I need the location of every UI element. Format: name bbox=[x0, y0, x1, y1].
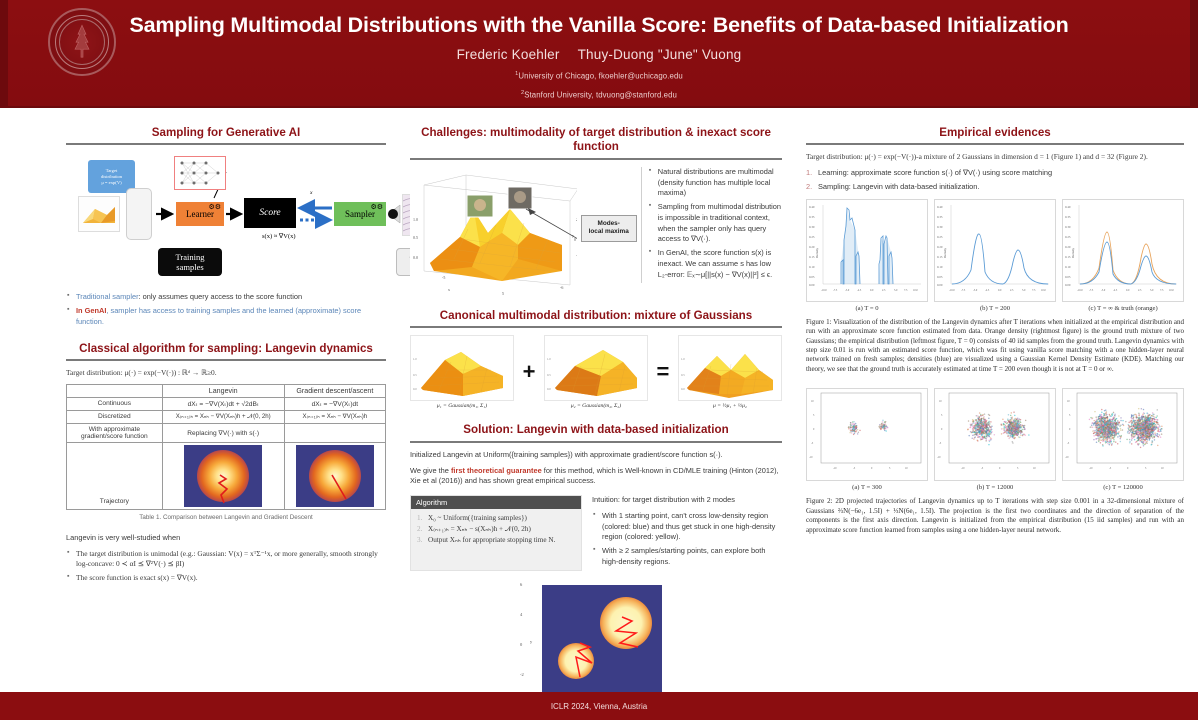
svg-text:10: 10 bbox=[939, 400, 942, 403]
svg-text:10: 10 bbox=[1067, 400, 1070, 403]
solution-paragraph-1: Initialized Langevin at Uniform({trainin… bbox=[410, 450, 782, 461]
svg-text:0.0: 0.0 bbox=[998, 289, 1002, 292]
list-item: The score function is exact s(x) = ∇V(x)… bbox=[66, 573, 386, 584]
mixture-of-gaussians-row: 1.00.50.0 μ₁ = Gaussian(m₁, Σ₁) + bbox=[410, 335, 782, 409]
svg-text:0.5: 0.5 bbox=[413, 235, 418, 240]
density-surface-thumbnail bbox=[78, 196, 120, 232]
svg-text:0.40: 0.40 bbox=[1065, 205, 1071, 209]
figure-2-row: 1050-5-10 -10-50510 (a) T = 300 bbox=[806, 388, 1184, 491]
divider bbox=[410, 326, 782, 328]
cell-continuous-gradient: dXₜ = −∇V(Xₜ)dt bbox=[284, 397, 385, 410]
svg-text:0.20: 0.20 bbox=[937, 245, 943, 249]
figure-1c: 0.400.350.30 0.250.200.15 0.100.050.00 D… bbox=[1062, 199, 1184, 312]
affiliation-1: 1University of Chicago, fkoehler@uchicag… bbox=[515, 71, 683, 81]
neural-network-icon bbox=[174, 156, 226, 190]
svg-text:-5: -5 bbox=[442, 275, 445, 280]
bullet-lead: Traditional sampler bbox=[76, 292, 139, 301]
list-item: X₍ₙ₊₁₎ₕ = Xₙₕ − s(Xₙₕ)h + 𝒩(0, 2h) bbox=[417, 524, 575, 535]
svg-text:0.0: 0.0 bbox=[413, 387, 417, 391]
intuition-wrap: Intuition: for target distribution with … bbox=[592, 495, 782, 570]
svg-text:Density: Density bbox=[815, 247, 819, 258]
section-title-canonical-multimodal: Canonical multimodal distribution: mixtu… bbox=[410, 309, 782, 323]
bullet-text: The target distribution is unimodal (e.g… bbox=[76, 549, 378, 569]
comparison-table: Langevin Gradient descent/ascent Continu… bbox=[66, 384, 386, 510]
figure-2a: 1050-5-10 -10-50510 (a) T = 300 bbox=[806, 388, 928, 491]
col-header-langevin: Langevin bbox=[162, 384, 284, 397]
poster-footer: ICLR 2024, Vienna, Austria bbox=[0, 692, 1198, 720]
svg-text:-7.5: -7.5 bbox=[833, 289, 838, 292]
svg-text:0.05: 0.05 bbox=[937, 275, 943, 279]
svg-text:-5.0: -5.0 bbox=[845, 289, 850, 292]
solution-paragraph-2: We give the first theoretical guarantee … bbox=[410, 466, 782, 487]
figure-1a-caption: (a) T = 0 bbox=[806, 305, 928, 312]
row-label-trajectory: Trajectory bbox=[67, 442, 163, 509]
learner-box: Learner ⚙⚙ bbox=[176, 202, 224, 226]
svg-text:0.0: 0.0 bbox=[547, 387, 551, 391]
svg-text:-5.0: -5.0 bbox=[1101, 289, 1106, 292]
svg-text:0.25: 0.25 bbox=[937, 235, 943, 239]
svg-text:5: 5 bbox=[889, 467, 891, 470]
bullet-text: With 1 starting point, can't cross low-d… bbox=[602, 511, 775, 541]
stanford-seal-icon bbox=[48, 8, 116, 76]
svg-text:0.10: 0.10 bbox=[1065, 265, 1071, 269]
bullet-text: The score function is exact s(x) = ∇V(x)… bbox=[76, 573, 198, 582]
svg-text:0.0: 0.0 bbox=[1126, 289, 1130, 292]
challenges-row: 1.00.50.0 -5x 5-6 20y-2 Modes- local max… bbox=[410, 167, 782, 297]
svg-text:2: 2 bbox=[576, 217, 577, 222]
empirical-steps: Learning: approximate score function s(·… bbox=[806, 168, 1184, 192]
challenges-bullets-wrap: Natural distributions are multimodal (de… bbox=[641, 167, 782, 283]
svg-text:2.5: 2.5 bbox=[882, 289, 886, 292]
figure-2c: 1050-5-10 -10-50510 (c) T = 120000 bbox=[1062, 388, 1184, 491]
svg-text:Density: Density bbox=[943, 247, 947, 258]
svg-text:0.15: 0.15 bbox=[809, 255, 815, 259]
svg-text:5: 5 bbox=[1017, 467, 1019, 470]
list-item: Sampling from multimodal distribution is… bbox=[648, 202, 782, 245]
column-middle: Challenges: multimodality of target dist… bbox=[400, 118, 792, 692]
svg-text:-5: -5 bbox=[939, 442, 942, 445]
svg-text:1.0: 1.0 bbox=[413, 357, 417, 361]
table-row: Discretized X₍ₙ₊₁₎ₕ = Xₙₕ − ∇V(Xₙₕ)h + 𝒩… bbox=[67, 410, 386, 423]
training-line1: Training bbox=[176, 252, 205, 262]
divider bbox=[410, 158, 782, 160]
svg-text:-5: -5 bbox=[981, 467, 984, 470]
divider bbox=[66, 359, 386, 361]
svg-text:0.40: 0.40 bbox=[937, 205, 943, 209]
target-distribution-line: Target distribution: μ(·) = exp(−V(·)) :… bbox=[66, 368, 386, 379]
section-title-empirical-evidences: Empirical evidences bbox=[806, 126, 1184, 140]
modebox-line2: local maxima bbox=[585, 228, 633, 236]
figure-1-row: 0.400.350.30 0.250.200.15 0.100.050.00 D… bbox=[806, 199, 1184, 312]
svg-text:1.0: 1.0 bbox=[413, 217, 418, 222]
divider bbox=[806, 143, 1184, 145]
svg-text:0.00: 0.00 bbox=[1065, 283, 1071, 287]
svg-text:0.00: 0.00 bbox=[937, 283, 943, 287]
column-right: Empirical evidences Target distribution:… bbox=[792, 118, 1198, 692]
generative-ai-flow-diagram: Target distribution μ = exp(V) bbox=[66, 152, 386, 280]
svg-text:0.0: 0.0 bbox=[413, 255, 418, 260]
solution-p2-highlight: first theoretical guarantee bbox=[451, 466, 542, 475]
svg-text:5: 5 bbox=[502, 291, 504, 296]
density-plot-c: 0.400.350.30 0.250.200.15 0.100.050.00 D… bbox=[1062, 199, 1184, 302]
svg-text:1.0: 1.0 bbox=[547, 357, 551, 361]
algorithm-box: Algorithm X₀ ~ Uniform({training samples… bbox=[410, 495, 582, 570]
training-image-thumbnails bbox=[126, 188, 152, 240]
svg-text:5: 5 bbox=[813, 414, 815, 417]
poster-authors: Frederic KoehlerThuy-Duong "June" Vuong bbox=[457, 47, 742, 62]
equals-operator-icon: = bbox=[657, 359, 670, 385]
svg-text:0.35: 0.35 bbox=[809, 215, 815, 219]
svg-text:0: 0 bbox=[941, 428, 943, 431]
svg-text:5.0: 5.0 bbox=[1022, 289, 1026, 292]
svg-text:10.0: 10.0 bbox=[1041, 289, 1046, 292]
svg-text:-5.0: -5.0 bbox=[973, 289, 978, 292]
svg-text:-10: -10 bbox=[1065, 456, 1069, 459]
svg-text:-10: -10 bbox=[961, 467, 965, 470]
two-mode-contour-figure bbox=[542, 585, 662, 705]
solution-p2-pre: We give the bbox=[410, 466, 451, 475]
bullet-text: With ≥ 2 samples/starting points, can ex… bbox=[602, 546, 765, 566]
wellstudied-intro: Langevin is very well-studied when bbox=[66, 533, 386, 544]
col-header-blank bbox=[67, 384, 163, 397]
svg-text:0.35: 0.35 bbox=[937, 215, 943, 219]
list-item: Output Xₙₕ for appropriate stopping time… bbox=[417, 535, 575, 546]
svg-text:-6: -6 bbox=[560, 285, 563, 290]
svg-text:0: 0 bbox=[871, 467, 873, 470]
gear-icon: ⚙⚙ bbox=[370, 203, 383, 211]
svg-text:0.0: 0.0 bbox=[681, 387, 685, 391]
list-item: Natural distributions are multimodal (de… bbox=[648, 167, 782, 199]
svg-text:0.20: 0.20 bbox=[809, 245, 815, 249]
langevin-trajectory-image bbox=[184, 445, 262, 507]
row-label-continuous: Continuous bbox=[67, 397, 163, 410]
svg-text:-5: -5 bbox=[811, 442, 814, 445]
figure-2b: 1050-5-10 -10-50510 (b) T = 12000 bbox=[934, 388, 1056, 491]
svg-text:x: x bbox=[448, 287, 450, 292]
svg-text:0.0: 0.0 bbox=[870, 289, 874, 292]
footer-text: ICLR 2024, Vienna, Austria bbox=[551, 702, 647, 711]
affiliation-2-text: Stanford University, tdvuong@stanford.ed… bbox=[524, 91, 677, 100]
algorithm-and-intuition-row: Algorithm X₀ ~ Uniform({training samples… bbox=[410, 495, 782, 570]
svg-text:5: 5 bbox=[941, 414, 943, 417]
author-2: Thuy-Duong "June" Vuong bbox=[578, 47, 742, 62]
scatter-plot-c: 1050-5-10 -10-50510 bbox=[1062, 388, 1184, 481]
svg-text:0.30: 0.30 bbox=[937, 225, 943, 229]
gaussian-1-caption: μ₁ = Gaussian(m₁, Σ₁) bbox=[410, 403, 514, 409]
list-item: Sampling: Langevin with data-based initi… bbox=[806, 182, 1184, 193]
svg-text:0.25: 0.25 bbox=[1065, 235, 1071, 239]
gear-icon: ⚙⚙ bbox=[208, 203, 221, 211]
row-label-approximate: With approximate gradient/score function bbox=[67, 423, 163, 442]
svg-text:-10: -10 bbox=[833, 467, 837, 470]
sampler-bullet-list: Traditional sampler: only assumes query … bbox=[66, 292, 386, 327]
gaussian-2-figure: 1.00.50.0 μ₂ = Gaussian(m₂, Σ₂) bbox=[544, 335, 648, 409]
bullet-text: In GenAI, the score function s(x) is ine… bbox=[658, 248, 772, 278]
multimodal-surface-plot: 1.00.50.0 -5x 5-6 20y-2 bbox=[410, 167, 577, 297]
cell-approximate-gradient bbox=[284, 423, 385, 442]
figure-1c-caption: (c) T = ∞ & truth (orange) bbox=[1062, 305, 1184, 312]
cell-approximate-langevin: Replacing ∇V(·) with s(·) bbox=[162, 423, 284, 442]
svg-text:0.5: 0.5 bbox=[413, 373, 417, 377]
svg-text:10.0: 10.0 bbox=[913, 289, 918, 292]
empirical-target-line: Target distribution: μ(·) = exp(−V(·))-a… bbox=[806, 152, 1184, 163]
svg-text:0.10: 0.10 bbox=[809, 265, 815, 269]
svg-text:0.25: 0.25 bbox=[809, 235, 815, 239]
list-item: With 1 starting point, can't cross low-d… bbox=[592, 511, 782, 543]
bullet-lead: In GenAI bbox=[76, 306, 106, 315]
svg-text:0.05: 0.05 bbox=[809, 275, 815, 279]
density-plot-b: 0.400.350.30 0.250.200.15 0.100.050.00 D… bbox=[934, 199, 1056, 302]
score-box: Score bbox=[244, 198, 296, 228]
table-row: Continuous dXₜ = −∇V(Xₜ)dt + √2dBₜ dXₜ =… bbox=[67, 397, 386, 410]
svg-text:0.10: 0.10 bbox=[937, 265, 943, 269]
figure-2b-caption: (b) T = 12000 bbox=[934, 484, 1056, 491]
svg-text:-2.5: -2.5 bbox=[857, 289, 862, 292]
gaussian-2-surface: 1.00.50.0 bbox=[544, 335, 648, 401]
svg-text:10: 10 bbox=[1161, 467, 1164, 470]
figure-1a: 0.400.350.30 0.250.200.15 0.100.050.00 D… bbox=[806, 199, 928, 312]
table-row: With approximate gradient/score function… bbox=[67, 423, 386, 442]
row-label-discretized: Discretized bbox=[67, 410, 163, 423]
list-item: With ≥ 2 samples/starting points, can ex… bbox=[592, 546, 782, 567]
bullet-text: Natural distributions are multimodal (de… bbox=[658, 167, 774, 197]
list-item: X₀ ~ Uniform({training samples}) bbox=[417, 513, 575, 524]
cell-discretized-langevin: X₍ₙ₊₁₎ₕ = Xₙₕ − ∇V(Xₙₕ)h + 𝒩(0, 2h) bbox=[162, 410, 284, 423]
section-title-sampling-generative-ai: Sampling for Generative AI bbox=[66, 126, 386, 140]
svg-text:7.5: 7.5 bbox=[1160, 289, 1164, 292]
svg-text:-2.5: -2.5 bbox=[1113, 289, 1118, 292]
flow-x-label: x bbox=[310, 190, 312, 196]
mixture-surface: 1.00.50.0 bbox=[678, 335, 782, 401]
svg-text:5.0: 5.0 bbox=[894, 289, 898, 292]
plus-operator-icon: + bbox=[523, 359, 536, 385]
poster-root: Sampling Multimodal Distributions with t… bbox=[0, 0, 1198, 720]
poster-title: Sampling Multimodal Distributions with t… bbox=[129, 14, 1068, 38]
cell-trajectory-gradient bbox=[284, 442, 385, 509]
cell-trajectory-langevin bbox=[162, 442, 284, 509]
gaussian-2-caption: μ₂ = Gaussian(m₂, Σ₂) bbox=[544, 403, 648, 409]
svg-text:-7.5: -7.5 bbox=[1089, 289, 1094, 292]
svg-text:0.35: 0.35 bbox=[1065, 215, 1071, 219]
section-title-challenges: Challenges: multimodality of target dist… bbox=[410, 126, 782, 155]
svg-text:0.40: 0.40 bbox=[809, 205, 815, 209]
svg-text:2.5: 2.5 bbox=[1010, 289, 1014, 292]
training-line2: samples bbox=[176, 262, 203, 272]
list-item: In GenAI, the score function s(x) is ine… bbox=[648, 248, 782, 280]
intuition-bullets: With 1 starting point, can't cross low-d… bbox=[592, 511, 782, 568]
algorithm-steps: X₀ ~ Uniform({training samples}) X₍ₙ₊₁₎ₕ… bbox=[411, 509, 581, 551]
table-caption: Table 1. Comparison between Langevin and… bbox=[66, 514, 386, 521]
svg-text:0.15: 0.15 bbox=[937, 255, 943, 259]
svg-text:0.05: 0.05 bbox=[1065, 275, 1071, 279]
svg-text:-2.5: -2.5 bbox=[985, 289, 990, 292]
column-left: Sampling for Generative AI bbox=[8, 118, 400, 692]
scatter-plot-b: 1050-5-10 -10-50510 bbox=[934, 388, 1056, 481]
svg-text:7.5: 7.5 bbox=[904, 289, 908, 292]
svg-text:10: 10 bbox=[1033, 467, 1036, 470]
svg-text:-7.5: -7.5 bbox=[961, 289, 966, 292]
svg-text:10: 10 bbox=[811, 400, 814, 403]
affiliation-2: 2Stanford University, tdvuong@stanford.e… bbox=[521, 90, 677, 100]
svg-text:-10: -10 bbox=[1089, 467, 1093, 470]
svg-text:Density: Density bbox=[1071, 247, 1075, 258]
svg-text:5: 5 bbox=[1069, 414, 1071, 417]
svg-text:0: 0 bbox=[813, 428, 815, 431]
author-1: Frederic Koehler bbox=[457, 47, 560, 62]
svg-text:-5: -5 bbox=[1109, 467, 1112, 470]
cell-discretized-gradient: X₍ₙ₊₁₎ₕ = Xₙₕ − ∇V(Xₙₕ)h bbox=[284, 410, 385, 423]
training-samples-label: Training samples bbox=[158, 248, 222, 276]
flow-score-equation: s(x) ≈ ∇V(x) bbox=[262, 232, 296, 240]
wellstudied-bullets: The target distribution is unimodal (e.g… bbox=[66, 549, 386, 584]
svg-text:-5: -5 bbox=[1067, 442, 1070, 445]
svg-text:-10: -10 bbox=[937, 456, 941, 459]
gaussian-1-surface: 1.00.50.0 bbox=[410, 335, 514, 401]
table-header-row: Langevin Gradient descent/ascent bbox=[67, 384, 386, 397]
gradient-trajectory-image bbox=[296, 445, 374, 507]
section-title-classical-algorithm: Classical algorithm for sampling: Langev… bbox=[66, 342, 386, 356]
svg-text:1.0: 1.0 bbox=[681, 357, 685, 361]
svg-text:-10.0: -10.0 bbox=[949, 289, 955, 292]
svg-text:-10.0: -10.0 bbox=[1077, 289, 1083, 292]
modebox-line1: Modes- bbox=[585, 220, 633, 228]
cell-continuous-langevin: dXₜ = −∇V(Xₜ)dt + √2dBₜ bbox=[162, 397, 284, 410]
list-item: Learning: approximate score function s(·… bbox=[806, 168, 1184, 179]
affiliation-1-text: University of Chicago, fkoehler@uchicago… bbox=[518, 71, 682, 80]
svg-text:0.00: 0.00 bbox=[809, 283, 815, 287]
challenges-bullet-list: Natural distributions are multimodal (de… bbox=[648, 167, 782, 280]
figure-2a-caption: (a) T = 300 bbox=[806, 484, 928, 491]
svg-text:0.30: 0.30 bbox=[809, 225, 815, 229]
density-plot-a: 0.400.350.30 0.250.200.15 0.100.050.00 D… bbox=[806, 199, 928, 302]
svg-text:2.5: 2.5 bbox=[1138, 289, 1142, 292]
svg-text:0: 0 bbox=[1069, 428, 1071, 431]
list-item: Traditional sampler: only assumes query … bbox=[66, 292, 386, 303]
bullet-rest: , sampler has access to training samples… bbox=[76, 306, 361, 326]
svg-text:5: 5 bbox=[1145, 467, 1147, 470]
svg-text:0.30: 0.30 bbox=[1065, 225, 1071, 229]
list-item: The target distribution is unimodal (e.g… bbox=[66, 549, 386, 570]
divider bbox=[66, 143, 386, 145]
svg-text:0.15: 0.15 bbox=[1065, 255, 1071, 259]
svg-text:5.0: 5.0 bbox=[1150, 289, 1154, 292]
svg-text:10.0: 10.0 bbox=[1169, 289, 1174, 292]
mixture-figure: 1.00.50.0 μ = ½μ₁ + ½μ₂ bbox=[678, 335, 782, 409]
algorithm-header: Algorithm bbox=[411, 496, 581, 509]
col-header-gradient: Gradient descent/ascent bbox=[284, 384, 385, 397]
svg-text:-2: -2 bbox=[576, 253, 577, 258]
svg-text:10: 10 bbox=[905, 467, 908, 470]
list-item: In GenAI, sampler has access to training… bbox=[66, 306, 386, 327]
figure-2c-caption: (c) T = 120000 bbox=[1062, 484, 1184, 491]
figure-1b: 0.400.350.30 0.250.200.15 0.100.050.00 D… bbox=[934, 199, 1056, 312]
intuition-title: Intuition: for target distribution with … bbox=[592, 495, 782, 506]
divider bbox=[410, 441, 782, 443]
svg-text:7.5: 7.5 bbox=[1032, 289, 1036, 292]
svg-text:-10: -10 bbox=[809, 456, 813, 459]
target-line3: μ = exp(V) bbox=[101, 180, 121, 186]
figure-1-caption: Figure 1: Visualization of the distribut… bbox=[806, 318, 1184, 375]
scatter-plot-a: 1050-5-10 -10-50510 bbox=[806, 388, 928, 481]
modes-local-maxima-callout: Modes- local maxima bbox=[581, 215, 637, 242]
svg-text:0: 0 bbox=[1127, 467, 1129, 470]
sampler-box: Sampler ⚙⚙ bbox=[334, 202, 386, 226]
poster-header: Sampling Multimodal Distributions with t… bbox=[0, 0, 1198, 108]
svg-text:0.5: 0.5 bbox=[681, 373, 685, 377]
section-title-solution: Solution: Langevin with data-based initi… bbox=[410, 423, 782, 437]
gaussian-1-figure: 1.00.50.0 μ₁ = Gaussian(m₁, Σ₁) bbox=[410, 335, 514, 409]
svg-text:0.5: 0.5 bbox=[547, 373, 551, 377]
mixture-caption: μ = ½μ₁ + ½μ₂ bbox=[678, 403, 782, 409]
figure-1b-caption: (b) T = 200 bbox=[934, 305, 1056, 312]
bullet-text: Sampling from multimodal distribution is… bbox=[658, 202, 781, 243]
poster-body: Sampling for Generative AI bbox=[0, 108, 1198, 692]
bullet-rest: : only assumes query access to the score… bbox=[139, 292, 303, 301]
figure-2-caption: Figure 2: 2D projected trajectories of L… bbox=[806, 497, 1184, 535]
svg-text:0.20: 0.20 bbox=[1065, 245, 1071, 249]
svg-text:-5: -5 bbox=[853, 467, 856, 470]
table-row: Trajectory bbox=[67, 442, 386, 509]
svg-text:0: 0 bbox=[999, 467, 1001, 470]
svg-text:-10.0: -10.0 bbox=[821, 289, 827, 292]
